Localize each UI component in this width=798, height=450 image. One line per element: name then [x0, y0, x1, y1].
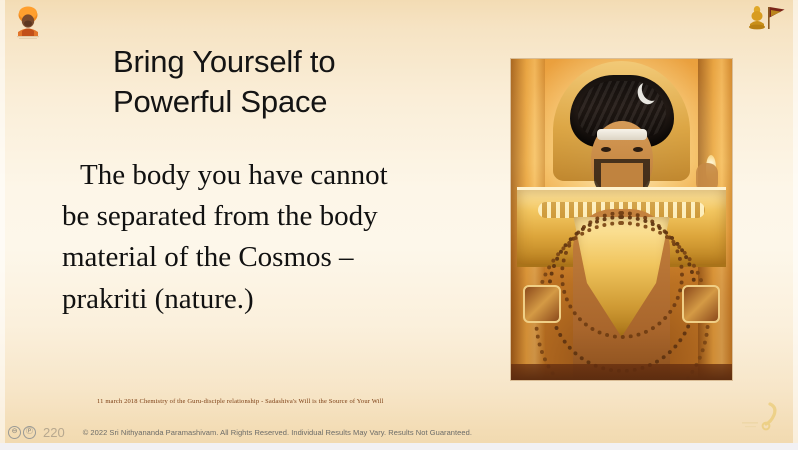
presentation-slide: Bring Yourself to Powerful Space The bod…	[0, 0, 798, 450]
photo-left-armband	[523, 285, 561, 323]
slide-title-line-1: Bring Yourself to	[113, 42, 493, 82]
photo-left-eye	[601, 147, 611, 152]
slide-body-text: The body you have cannot be separated fr…	[62, 155, 462, 320]
copyleft-icon: ⊖	[8, 426, 21, 439]
deity-and-flag-logo-icon	[744, 2, 788, 38]
guru-portrait-photo-content	[511, 59, 732, 380]
slide-footer: ⊖ Ⓟ 220 © 2022 Sri Nithyananda Paramashi…	[0, 421, 798, 443]
body-line-1: The body you have cannot	[62, 155, 462, 196]
photo-foreground-floor	[511, 364, 732, 380]
page-number: 220	[43, 425, 65, 440]
guru-portrait-logo-icon	[8, 2, 48, 42]
body-line-2: be separated from the body	[62, 196, 462, 237]
right-edge-strip	[793, 0, 798, 450]
left-edge-strip	[0, 0, 5, 450]
reference-caption: 11 march 2018 Chemistry of the Guru-disc…	[97, 398, 384, 405]
photo-right-eye	[633, 147, 643, 152]
guru-portrait-photo	[511, 59, 732, 380]
photo-right-armband	[682, 285, 720, 323]
license-icon-group: ⊖ Ⓟ	[8, 426, 36, 439]
body-line-4: prakriti (nature.)	[62, 279, 462, 320]
copyright-notice: © 2022 Sri Nithyananda Paramashivam. All…	[83, 428, 472, 437]
creative-commons-icon: Ⓟ	[23, 426, 36, 439]
body-line-3: material of the Cosmos –	[62, 237, 462, 278]
photo-forehead-vibhuti-mark	[597, 129, 647, 140]
slide-title: Bring Yourself to Powerful Space	[113, 42, 493, 121]
bottom-edge-strip	[0, 443, 798, 450]
slide-title-line-2: Powerful Space	[113, 82, 493, 122]
